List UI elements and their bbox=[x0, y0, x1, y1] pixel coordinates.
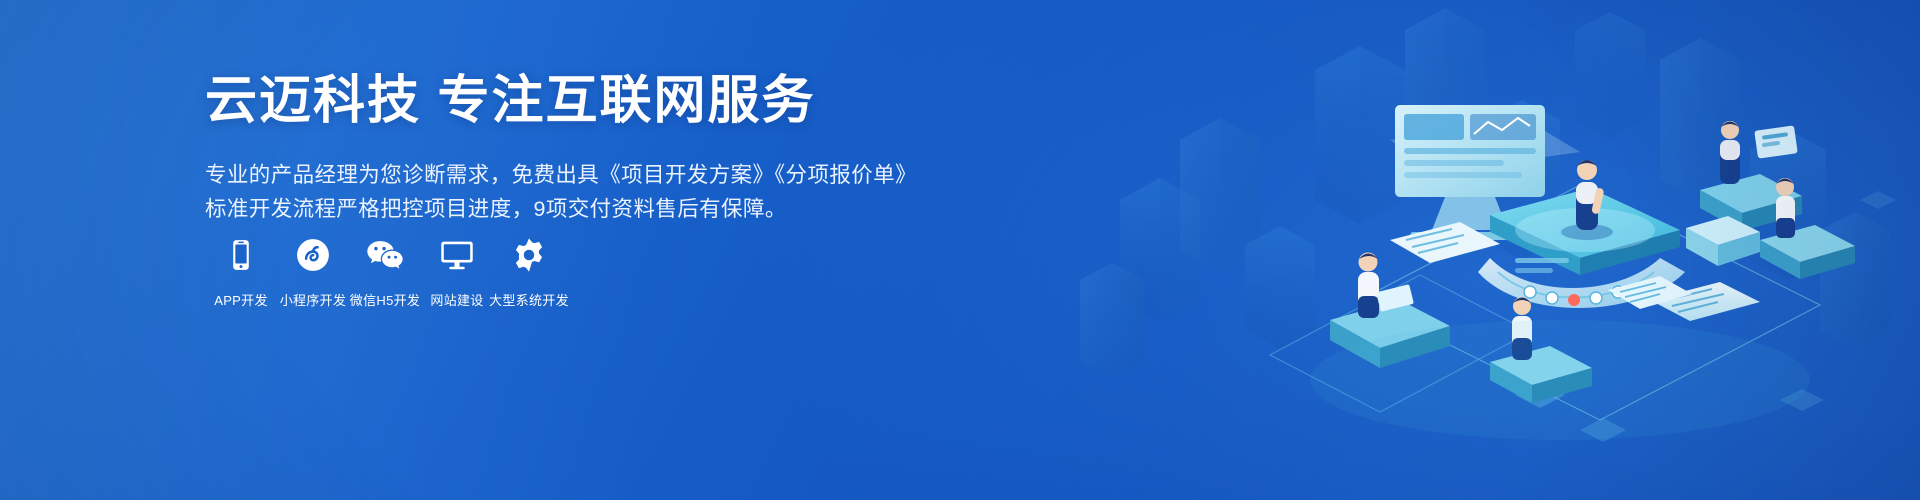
wechat-icon bbox=[362, 232, 408, 278]
service-list: APP开发 小程序开发 bbox=[205, 232, 565, 309]
floating-diamonds bbox=[1515, 191, 1896, 442]
service-item-wechat-h5[interactable]: 微信H5开发 bbox=[349, 232, 421, 309]
document-sheet bbox=[1390, 222, 1500, 263]
service-item-miniprogram[interactable]: 小程序开发 bbox=[277, 232, 349, 309]
iso-grid-frame bbox=[1270, 185, 1820, 420]
person-bottom-center bbox=[1490, 297, 1592, 403]
person-with-laptop bbox=[1330, 253, 1450, 369]
banner-content: 云迈科技 专注互联网服务 专业的产品经理为您诊断需求，免费出具《项目开发方案》《… bbox=[205, 72, 965, 226]
service-item-website[interactable]: 网站建设 bbox=[421, 232, 493, 309]
dashboard-monitor bbox=[1390, 105, 1580, 240]
background-buildings bbox=[1080, 8, 1890, 377]
service-item-app[interactable]: APP开发 bbox=[205, 232, 277, 309]
subtitle-line-1: 专业的产品经理为您诊断需求，免费出具《项目开发方案》《分项报价单》 bbox=[205, 158, 965, 192]
mini-program-icon bbox=[290, 232, 336, 278]
promotional-banner: 云迈科技 专注互联网服务 专业的产品经理为您诊断需求，免费出具《项目开发方案》《… bbox=[0, 0, 1920, 500]
list-card bbox=[1650, 282, 1760, 321]
service-label: APP开发 bbox=[214, 290, 268, 309]
banner-subtitle: 专业的产品经理为您诊断需求，免费出具《项目开发方案》《分项报价单》 标准开发流程… bbox=[205, 158, 965, 226]
stacked-cubes bbox=[1686, 216, 1760, 266]
service-item-large-system[interactable]: 大型系统开发 bbox=[493, 232, 565, 309]
right-mid-group bbox=[1760, 178, 1855, 279]
center-platform bbox=[1490, 188, 1680, 275]
tablet-card bbox=[1608, 276, 1692, 309]
service-label: 小程序开发 bbox=[280, 290, 347, 309]
isometric-illustration bbox=[1060, 0, 1920, 500]
right-upper-group bbox=[1700, 121, 1802, 231]
gear-icon bbox=[506, 232, 552, 278]
service-label: 大型系统开发 bbox=[489, 290, 569, 309]
subtitle-line-2: 标准开发流程严格把控项目进度，9项交付资料售后有保障。 bbox=[205, 192, 965, 226]
page-title: 云迈科技 专注互联网服务 bbox=[205, 72, 965, 132]
ribbon-dots bbox=[1524, 286, 1624, 306]
service-label: 网站建设 bbox=[430, 290, 483, 309]
person-standing-center bbox=[1561, 160, 1613, 240]
data-ribbon bbox=[1478, 258, 1685, 308]
service-label: 微信H5开发 bbox=[350, 290, 420, 309]
mobile-phone-icon bbox=[218, 232, 264, 278]
monitor-icon bbox=[434, 232, 480, 278]
